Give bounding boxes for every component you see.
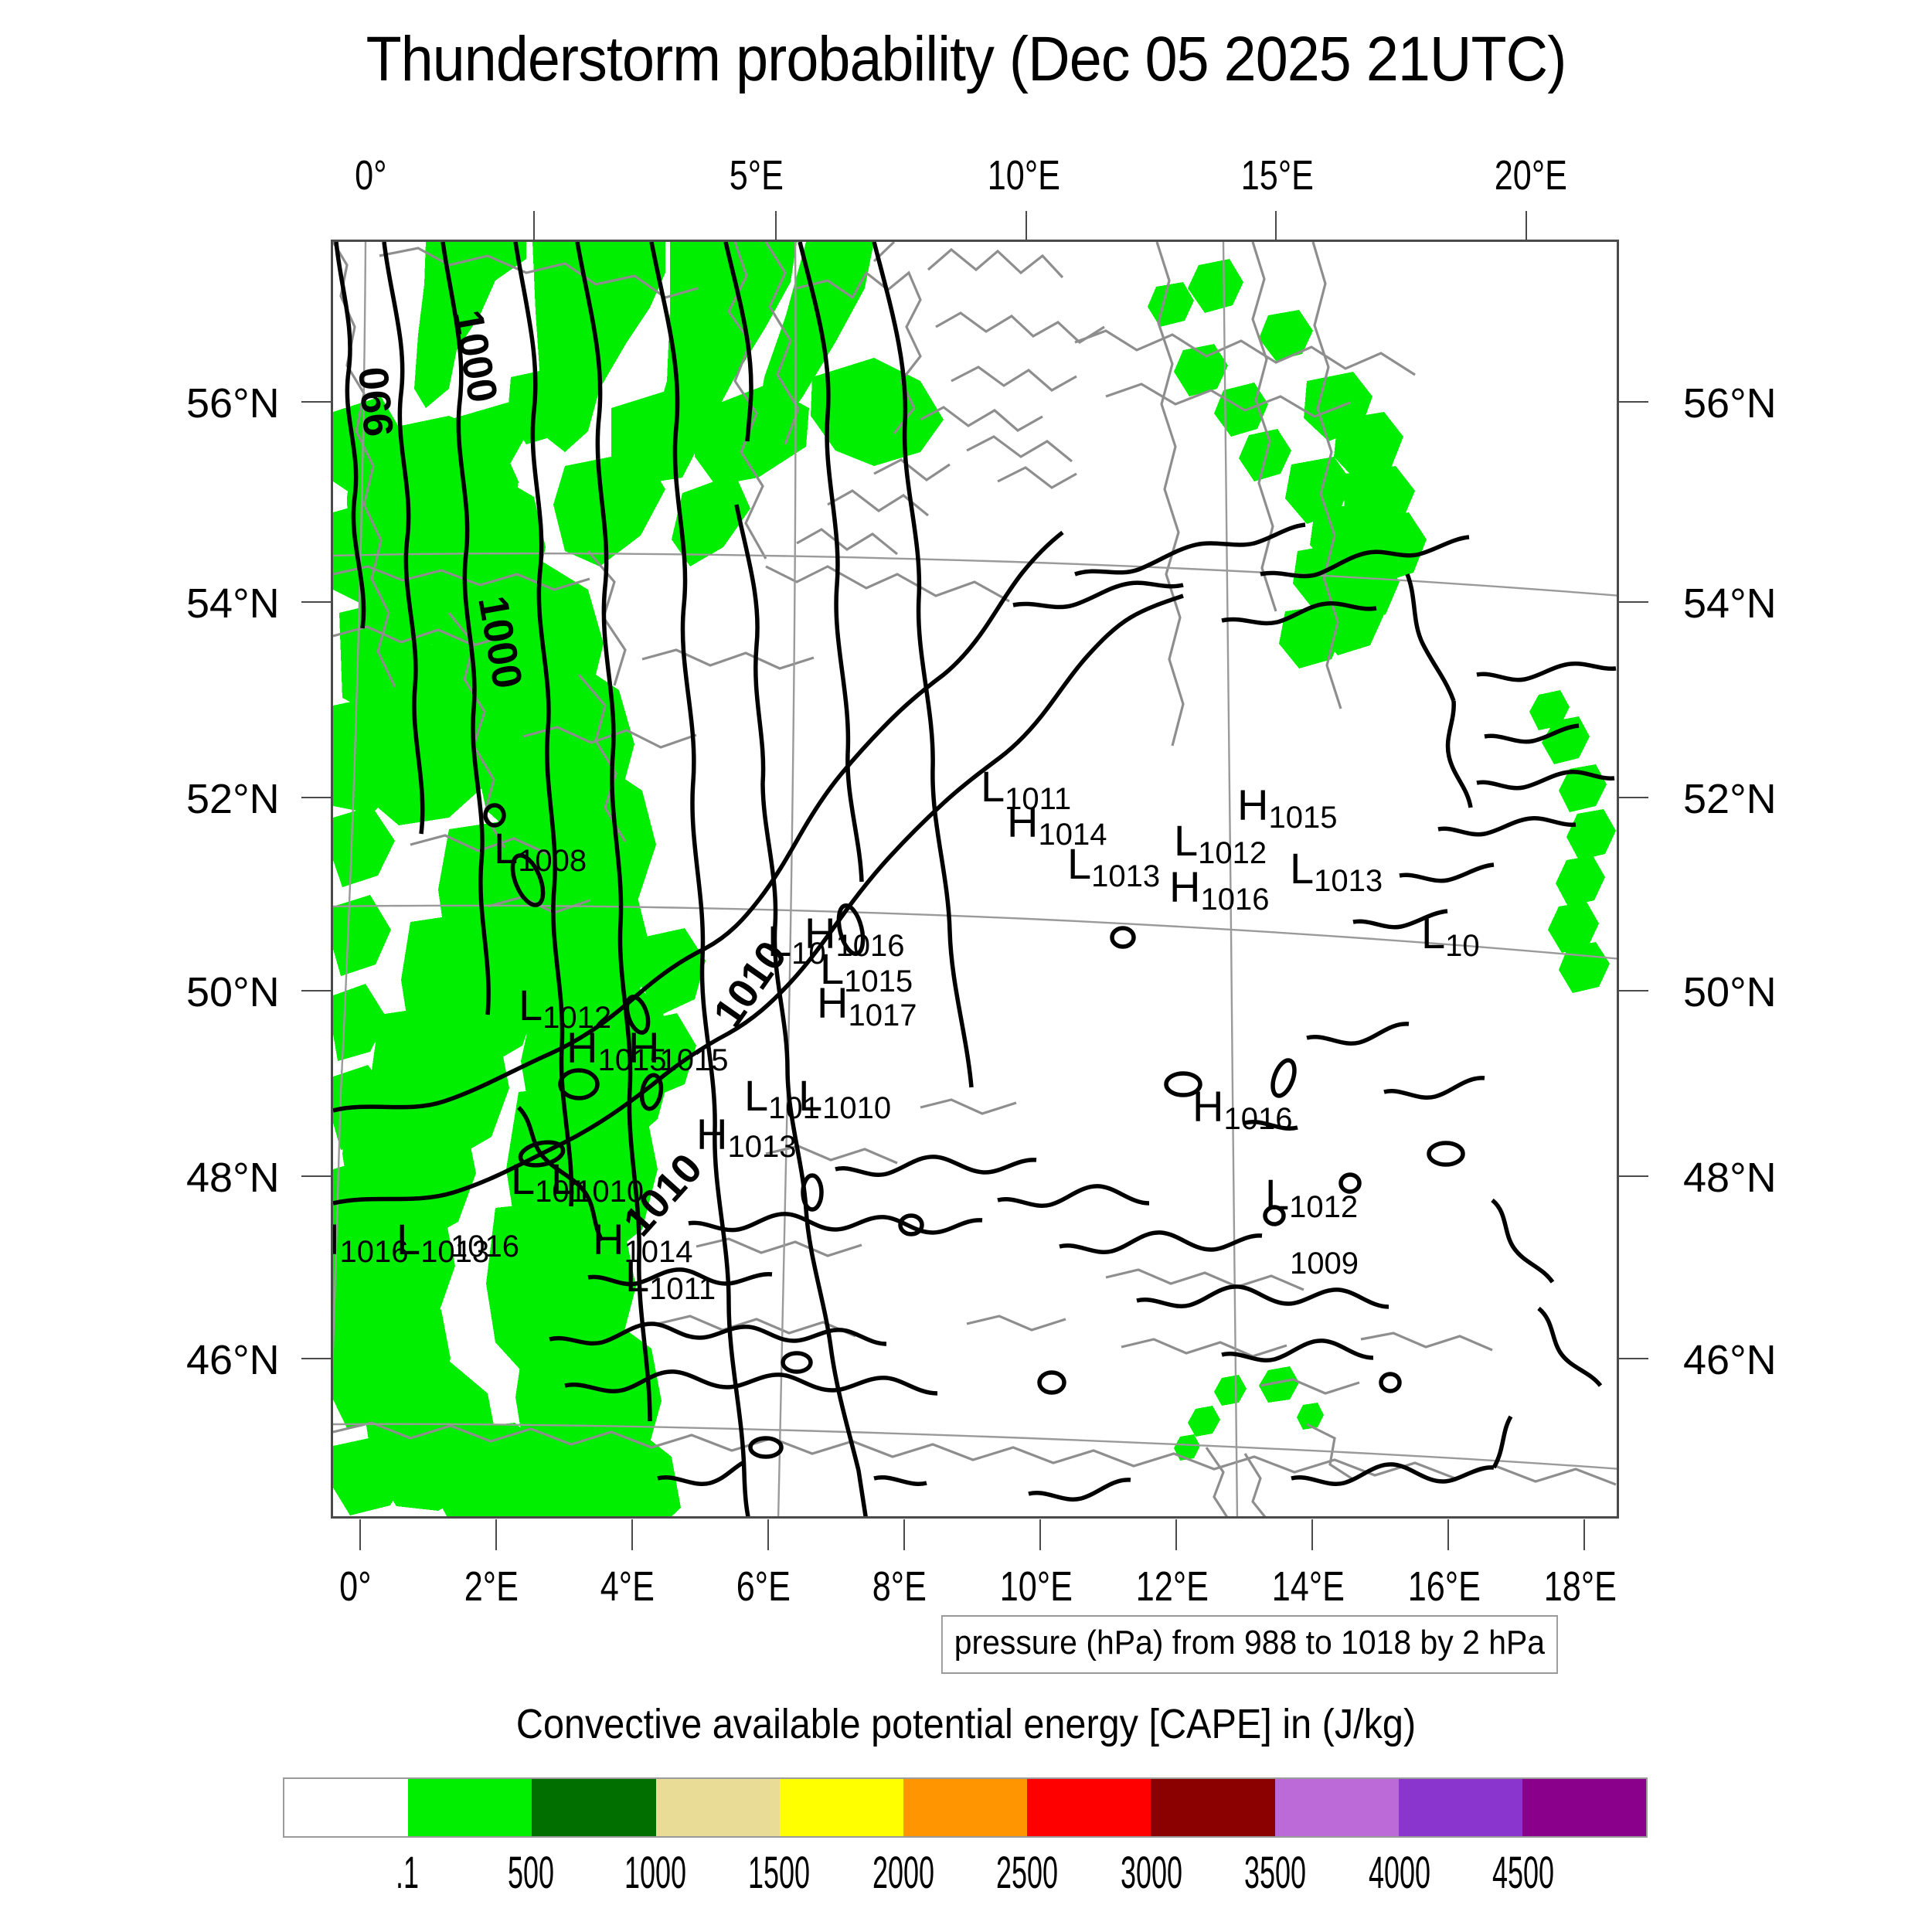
- left-tick-0: [301, 401, 332, 403]
- right-axis-label-2: 52°N: [1683, 775, 1777, 823]
- colorbar-swatch-4: [780, 1779, 903, 1836]
- bottom-tick-0: [359, 1519, 361, 1550]
- top-tick-4: [1526, 211, 1527, 240]
- pressure-center-H-1017: H1017: [817, 978, 917, 1028]
- right-tick-5: [1617, 1358, 1648, 1359]
- colorbar-swatch-10: [1522, 1779, 1646, 1836]
- cape-shading-layer: [333, 242, 1616, 1519]
- colorbar-swatch-9: [1399, 1779, 1522, 1836]
- bottom-axis-label-0: 0°: [339, 1563, 371, 1611]
- bottom-tick-1: [495, 1519, 497, 1550]
- bottom-tick-9: [1583, 1519, 1585, 1550]
- right-axis-label-5: 46°N: [1683, 1336, 1777, 1384]
- top-axis-label-2: 10°E: [988, 151, 1060, 199]
- pressure-center-L-10-b: L10: [1421, 908, 1480, 958]
- bottom-tick-7: [1311, 1519, 1313, 1550]
- left-axis-label-5: 46°N: [186, 1336, 280, 1384]
- bottom-axis-label-8: 16°E: [1408, 1563, 1481, 1611]
- contour-label-990: 990: [350, 365, 403, 438]
- top-tick-0: [533, 211, 535, 240]
- colorbar-tick-2000: 2000: [872, 1847, 934, 1899]
- top-axis-label-0: 0°: [355, 151, 386, 199]
- colorbar-tick-3500: 3500: [1244, 1847, 1306, 1899]
- pressure-center-L-1010-a: L1010: [798, 1070, 891, 1121]
- bottom-tick-6: [1175, 1519, 1177, 1550]
- left-tick-3: [301, 990, 332, 992]
- colorbar-tick-.1: .1: [396, 1847, 419, 1899]
- colorbar-swatch-0: [284, 1779, 408, 1836]
- pressure-center-L-1013-a: L1013: [1067, 838, 1160, 889]
- pressure-center-L-1013-b: L1013: [1290, 843, 1383, 893]
- pressure-center-H-1015-b: H1015: [628, 1022, 728, 1073]
- right-tick-4: [1617, 1175, 1648, 1177]
- right-tick-2: [1617, 797, 1648, 798]
- left-axis-label-1: 54°N: [186, 580, 280, 628]
- colorbar-swatch-7: [1151, 1779, 1274, 1836]
- colorbar-tick-labels: .150010001500200025003000350040004500: [283, 1847, 1648, 1909]
- bottom-axis-label-1: 2°E: [464, 1563, 519, 1611]
- top-axis-label-4: 20°E: [1495, 151, 1567, 199]
- left-tick-1: [301, 601, 332, 603]
- page-title: Thunderstorm probability (Dec 05 2025 21…: [77, 23, 1855, 96]
- pressure-center-H-1013: H1013: [696, 1109, 796, 1159]
- colorbar-swatch-6: [1027, 1779, 1151, 1836]
- colorbar-swatch-3: [656, 1779, 780, 1836]
- left-tick-5: [301, 1358, 332, 1359]
- colorbar-tick-1000: 1000: [624, 1847, 686, 1899]
- colorbar-swatch-2: [532, 1779, 655, 1836]
- bottom-axis-label-3: 6°E: [736, 1563, 791, 1611]
- left-axis-label-4: 48°N: [186, 1154, 280, 1202]
- cape-colorbar[interactable]: [283, 1777, 1648, 1838]
- bottom-tick-5: [1039, 1519, 1041, 1550]
- colorbar-tick-3000: 3000: [1121, 1847, 1182, 1899]
- top-axis-label-3: 15°E: [1241, 151, 1314, 199]
- colorbar-tick-2500: 2500: [996, 1847, 1058, 1899]
- colorbar-tick-500: 500: [508, 1847, 554, 1899]
- bottom-tick-2: [631, 1519, 633, 1550]
- map-plot-area[interactable]: 990 1000 1000 1010 1010 L1011 H1014 H101…: [331, 240, 1619, 1519]
- pressure-center-value-1016: 1016: [451, 1222, 519, 1257]
- contour-label-1000-a: 1000: [444, 307, 506, 406]
- bottom-axis-label-5: 10°E: [1000, 1563, 1073, 1611]
- colorbar-swatch-1: [408, 1779, 532, 1836]
- right-axis-label-3: 50°N: [1683, 968, 1777, 1016]
- pressure-center-L-1012: L1012: [1174, 815, 1267, 866]
- pressure-center-H-1016-c: H1016: [1192, 1081, 1292, 1131]
- right-axis-label-1: 54°N: [1683, 580, 1777, 628]
- colorbar-tick-1500: 1500: [748, 1847, 810, 1899]
- colorbar-title: Convective available potential energy [C…: [97, 1700, 1835, 1748]
- left-axis-label-3: 50°N: [186, 968, 280, 1016]
- pressure-center-L-1010-b: L1010: [551, 1154, 644, 1204]
- right-tick-0: [1617, 401, 1648, 403]
- bottom-axis-label-7: 14°E: [1272, 1563, 1345, 1611]
- top-tick-3: [1275, 211, 1277, 240]
- bottom-tick-3: [767, 1519, 769, 1550]
- pressure-center-value-1009: 1009: [1290, 1239, 1359, 1274]
- bottom-axis-label-4: 8°E: [872, 1563, 927, 1611]
- top-tick-2: [1026, 211, 1027, 240]
- left-tick-4: [301, 1175, 332, 1177]
- pressure-center-L-1011-b: L1011: [625, 1251, 716, 1301]
- right-axis-label-4: 48°N: [1683, 1154, 1777, 1202]
- colorbar-swatch-5: [903, 1779, 1027, 1836]
- pressure-legend-box: pressure (hPa) from 988 to 1018 by 2 hPa: [941, 1615, 1558, 1674]
- bottom-axis-label-6: 12°E: [1136, 1563, 1209, 1611]
- pressure-center-L-1012-c: L1012: [1265, 1169, 1358, 1219]
- left-axis-label-2: 52°N: [186, 775, 280, 823]
- pressure-legend-text: pressure (hPa) from 988 to 1018 by 2 hPa: [954, 1624, 1545, 1662]
- pressure-center-L-1008: L1008: [494, 823, 587, 873]
- right-tick-3: [1617, 990, 1648, 992]
- right-axis-label-0: 56°N: [1683, 379, 1777, 427]
- pressure-center-H-1016-a: H1016: [1169, 862, 1269, 912]
- left-tick-2: [301, 797, 332, 798]
- left-axis-label-0: 56°N: [186, 379, 280, 427]
- bottom-axis-label-9: 18°E: [1544, 1563, 1617, 1611]
- top-tick-1: [775, 211, 777, 240]
- bottom-tick-4: [903, 1519, 905, 1550]
- right-tick-1: [1617, 601, 1648, 603]
- bottom-axis-label-2: 4°E: [600, 1563, 655, 1611]
- colorbar-swatch-8: [1275, 1779, 1399, 1836]
- top-axis-label-1: 5°E: [730, 151, 784, 199]
- bottom-tick-8: [1447, 1519, 1449, 1550]
- colorbar-tick-4000: 4000: [1369, 1847, 1430, 1899]
- map-canvas: 990 1000 1000 1010 1010: [333, 242, 1619, 1519]
- colorbar-tick-4500: 4500: [1492, 1847, 1554, 1899]
